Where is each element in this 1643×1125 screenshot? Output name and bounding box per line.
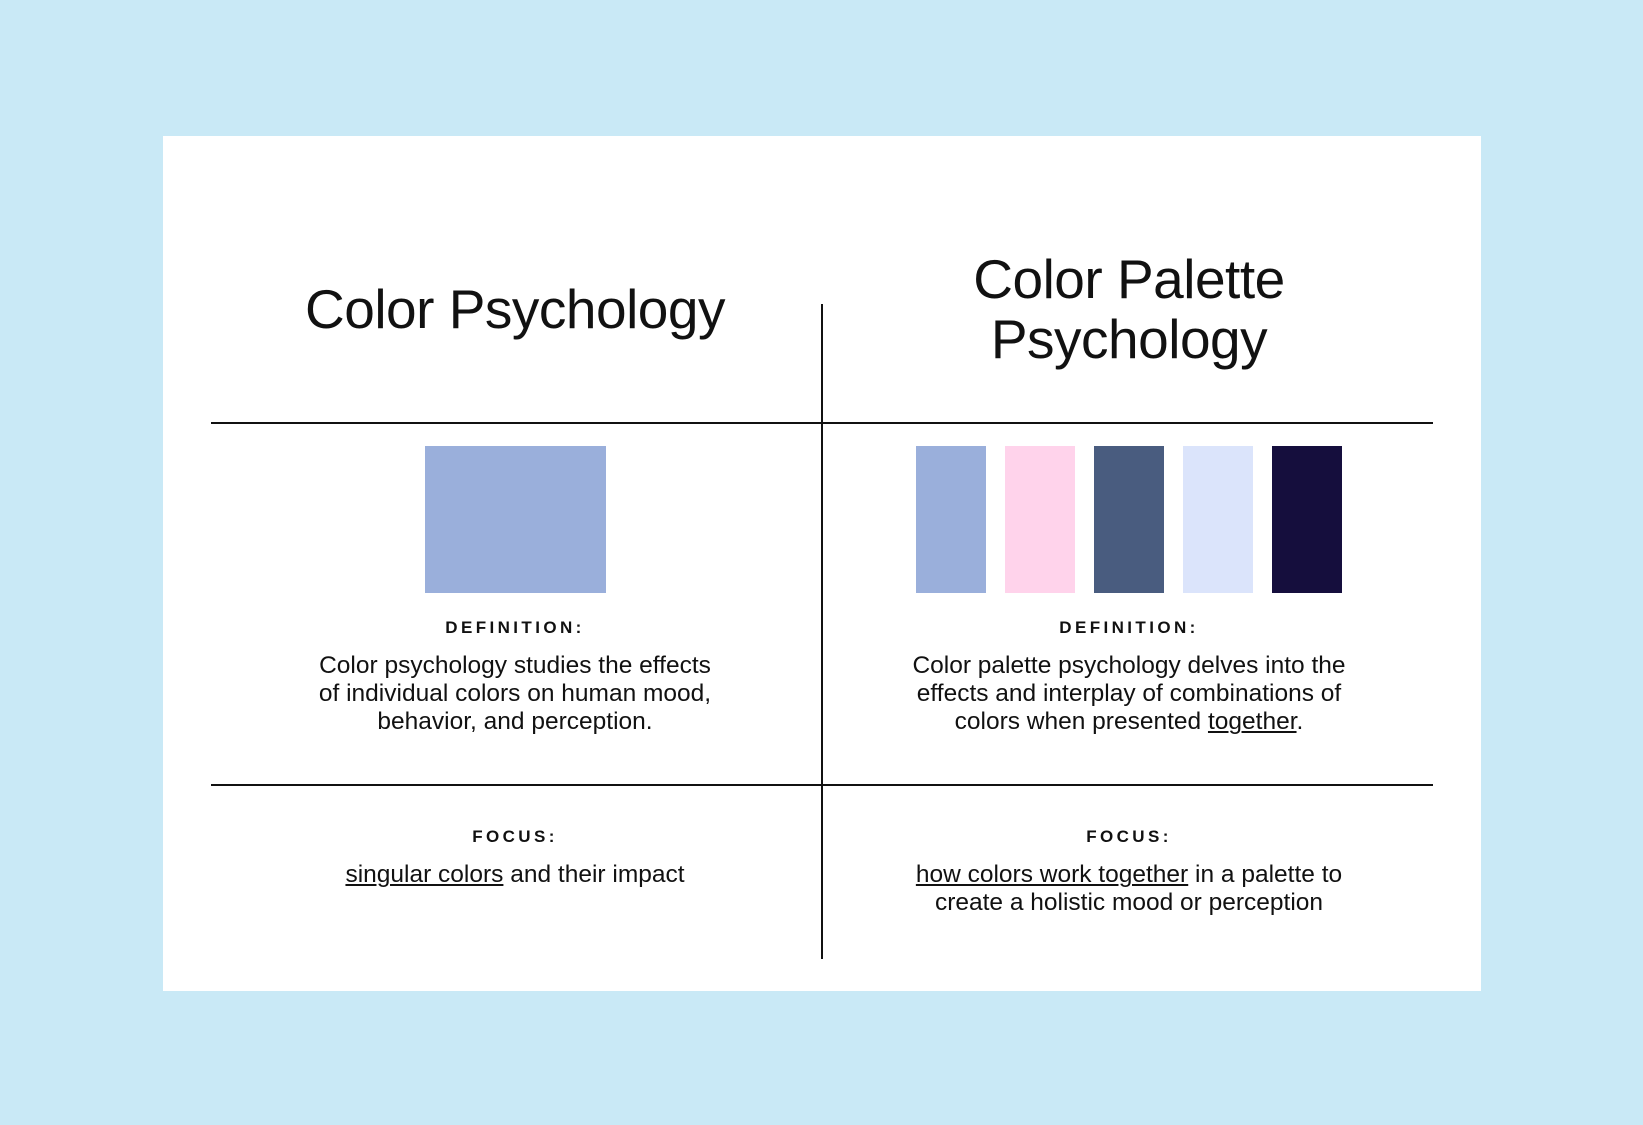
definition-block-left: DEFINITION: Color psychology studies the… bbox=[208, 618, 822, 737]
definition-text-right: Color palette psychology delves into the… bbox=[910, 652, 1348, 737]
emphasis-underline: how colors work together bbox=[916, 861, 1188, 888]
column-color-psychology: Color Psychology DEFINITION: Color psych… bbox=[208, 196, 822, 976]
title-band-left: Color Psychology bbox=[208, 196, 822, 422]
swatch-row-left bbox=[208, 446, 822, 593]
text-run: and their impact bbox=[503, 861, 684, 888]
focus-band-right: FOCUS: how colors work together in a pal… bbox=[822, 784, 1436, 917]
color-swatch-navy bbox=[1272, 446, 1342, 593]
text-run: . bbox=[1297, 708, 1304, 735]
definition-text-left: Color psychology studies the effects of … bbox=[310, 652, 720, 737]
title-band-right: Color Palette Psychology bbox=[822, 196, 1436, 422]
page-title-left: Color Psychology bbox=[305, 279, 725, 340]
focus-kicker-left: FOCUS: bbox=[208, 827, 822, 847]
focus-text-right: how colors work together in a palette to… bbox=[909, 861, 1349, 917]
definition-kicker-right: DEFINITION: bbox=[822, 618, 1436, 638]
color-swatch-slate-blue bbox=[1094, 446, 1164, 593]
page-root: Color Psychology DEFINITION: Color psych… bbox=[0, 0, 1643, 1125]
focus-text-left: singular colors and their impact bbox=[305, 861, 725, 889]
swatch-row-right bbox=[822, 446, 1436, 593]
focus-kicker-right: FOCUS: bbox=[822, 827, 1436, 847]
column-color-palette-psychology: Color Palette Psychology DEFINITION: Col… bbox=[822, 196, 1436, 976]
definition-block-right: DEFINITION: Color palette psychology del… bbox=[822, 618, 1436, 737]
page-title-right: Color Palette Psychology bbox=[889, 249, 1369, 370]
color-swatch-periwinkle bbox=[916, 446, 986, 593]
color-swatch-ice-blue bbox=[1183, 446, 1253, 593]
comparison-card: Color Psychology DEFINITION: Color psych… bbox=[163, 136, 1481, 991]
emphasis-underline: singular colors bbox=[345, 861, 503, 888]
focus-band-left: FOCUS: singular colors and their impact bbox=[208, 784, 822, 889]
definition-kicker-left: DEFINITION: bbox=[208, 618, 822, 638]
text-run: Color psychology studies the effects of … bbox=[319, 652, 711, 735]
swatch-band-right: DEFINITION: Color palette psychology del… bbox=[822, 422, 1436, 784]
swatch-band-left: DEFINITION: Color psychology studies the… bbox=[208, 422, 822, 784]
color-swatch-pale-pink bbox=[1005, 446, 1075, 593]
comparison-grid: Color Psychology DEFINITION: Color psych… bbox=[208, 196, 1436, 976]
color-swatch-periwinkle bbox=[425, 446, 606, 593]
emphasis-underline: together bbox=[1208, 708, 1297, 735]
